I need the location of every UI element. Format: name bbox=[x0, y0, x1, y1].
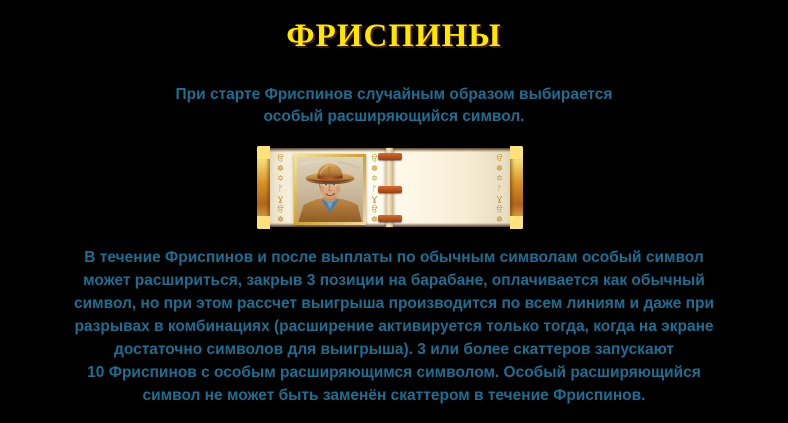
glyph-icon: ☸ bbox=[496, 216, 503, 224]
special-symbol-frame bbox=[294, 154, 366, 225]
book-clasp-bottom bbox=[378, 215, 402, 222]
glyph-icon: ✡ bbox=[277, 175, 284, 183]
freespins-info-screen: ФРИСПИНЫ При старте Фриспинов случайным … bbox=[0, 0, 788, 423]
glyph-icon: Ɣ bbox=[372, 196, 378, 204]
glyph-icon: ᚠ bbox=[372, 185, 377, 193]
description-line-2: может расшириться, закрыв 3 позиции на б… bbox=[14, 269, 774, 292]
glyph-icon: Ɣ bbox=[497, 196, 503, 204]
subtitle-line-1: При старте Фриспинов случайным образом в… bbox=[94, 84, 694, 106]
glyph-column-left: ੳ ☸ ✡ ᚠ Ɣ ੳ ☸ bbox=[273, 155, 288, 224]
page-title: ФРИСПИНЫ bbox=[0, 20, 788, 53]
glyph-icon: ✡ bbox=[496, 175, 503, 183]
glyph-icon: ☸ bbox=[371, 216, 378, 224]
glyph-icon: ☸ bbox=[277, 165, 284, 173]
description-line-7: символ не может быть заменён скаттером в… bbox=[14, 384, 774, 407]
glyph-icon: ☸ bbox=[371, 165, 378, 173]
glyph-icon: ੳ bbox=[497, 206, 503, 214]
description-block: В течение Фриспинов и после выплаты по о… bbox=[14, 246, 774, 407]
glyph-icon: ੳ bbox=[278, 206, 284, 214]
glyph-icon: Ɣ bbox=[278, 196, 284, 204]
description-line-1: В течение Фриспинов и после выплаты по о… bbox=[14, 246, 774, 269]
glyph-icon: ᚠ bbox=[497, 185, 502, 193]
glyph-icon: ੳ bbox=[372, 155, 378, 163]
glyph-icon: ੳ bbox=[497, 155, 503, 163]
book-clasp-middle bbox=[378, 186, 402, 193]
glyph-column-right: ੳ ☸ ✡ ᚠ Ɣ ੳ ☸ bbox=[492, 155, 507, 224]
cowboy-symbol-icon bbox=[297, 157, 363, 222]
description-line-5: достаточно символов для выигрыша). 3 или… bbox=[14, 338, 774, 361]
book-illustration: ੳ ☸ ✡ ᚠ Ɣ ੳ ☸ bbox=[257, 146, 523, 229]
book-pages: ੳ ☸ ✡ ᚠ Ɣ ੳ ☸ bbox=[268, 148, 512, 227]
book-clasp-top bbox=[378, 153, 402, 160]
glyph-icon: ☸ bbox=[496, 165, 503, 173]
glyph-icon: ੳ bbox=[278, 155, 284, 163]
expanding-symbol-graphic: ੳ ☸ ✡ ᚠ Ɣ ੳ ☸ bbox=[257, 146, 523, 229]
glyph-icon: ☸ bbox=[277, 216, 284, 224]
description-line-3: символ, но при этом рассчет выигрыша про… bbox=[14, 292, 774, 315]
glyph-icon: ᚠ bbox=[278, 185, 283, 193]
glyph-icon: ✡ bbox=[371, 175, 378, 183]
description-line-6: 10 Фриспинов с особым расширяющимся симв… bbox=[14, 361, 774, 384]
subtitle-line-2: особый расширяющийся символ. bbox=[94, 106, 694, 128]
description-line-4: разрывах в комбинациях (расширение актив… bbox=[14, 315, 774, 338]
book-cover-left bbox=[257, 146, 270, 229]
subtitle-block: При старте Фриспинов случайным образом в… bbox=[94, 84, 694, 128]
glyph-icon: ੳ bbox=[372, 206, 378, 214]
book-cover-right bbox=[510, 146, 523, 229]
